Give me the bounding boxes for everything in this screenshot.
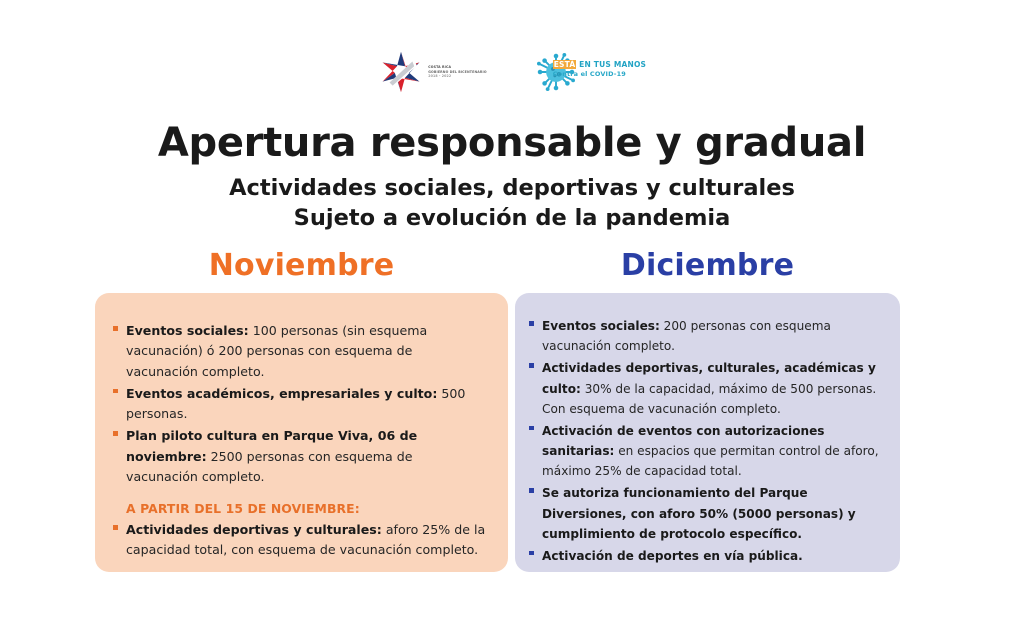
bullet-text: Plan piloto cultura en Parque Viva, 06 d… [126, 428, 417, 484]
costa-rica-star-icon [379, 50, 423, 94]
bullet-text: Activación de eventos con autorizaciones… [542, 424, 879, 478]
bullet-bold: Eventos sociales: [542, 319, 660, 333]
page-subtitle: Actividades sociales, deportivas y cultu… [0, 174, 1024, 233]
list-item: Plan piloto cultura en Parque Viva, 06 d… [113, 425, 486, 486]
bullet-bold: Activación de deportes en vía pública. [542, 549, 803, 563]
month-heading-diciembre: Diciembre [515, 248, 900, 283]
title-block: Apertura responsable y gradual Actividad… [0, 122, 1024, 233]
noviembre-bullet-list: Eventos sociales: 100 personas (sin esqu… [113, 320, 486, 486]
bullet-bold: Eventos sociales: [126, 323, 249, 338]
month-heading-noviembre: Noviembre [95, 248, 508, 283]
noviembre-bullet-list-after-note: Actividades deportivas y culturales: afo… [113, 519, 486, 560]
covid-logo-line-2: Contra el COVID-19 [553, 70, 646, 78]
costa-rica-bicentennial-logo: COSTA RICA GOBIERNO DEL BICENTENARIO 201… [379, 50, 486, 94]
covid-logo-line-1-rest: EN TUS MANOS [576, 60, 646, 69]
list-item: Se autoriza funcionamiento del Parque Di… [529, 482, 884, 543]
bullet-text: Activación de deportes en vía pública. [542, 549, 803, 563]
bullet-bold: Eventos académicos, empresariales y cult… [126, 386, 437, 401]
list-item: Activación de deportes en vía pública. [529, 545, 884, 565]
list-item: Eventos académicos, empresariales y cult… [113, 383, 486, 424]
list-item: Eventos sociales: 100 personas (sin esqu… [113, 320, 486, 381]
list-item: Eventos sociales: 200 personas con esque… [529, 315, 884, 355]
bullet-bold: Se autoriza funcionamiento del Parque Di… [542, 486, 856, 540]
covid-logo-text: ESTÁ EN TUS MANOS Contra el COVID-19 [553, 60, 646, 78]
covid-logo-highlight: ESTÁ [553, 60, 577, 69]
bullet-text: Eventos sociales: 100 personas (sin esqu… [126, 323, 427, 379]
esta-en-tus-manos-covid-logo: ESTÁ EN TUS MANOS Contra el COVID-19 [537, 51, 645, 93]
diciembre-bullet-list: Eventos sociales: 200 personas con esque… [529, 315, 884, 565]
page-title: Apertura responsable y gradual [0, 122, 1024, 164]
panel-noviembre: Eventos sociales: 100 personas (sin esqu… [95, 293, 508, 572]
bullet-rest: 30% de la capacidad, máximo de 500 perso… [542, 382, 876, 416]
bullet-text: Actividades deportivas y culturales: afo… [126, 522, 485, 557]
month-headings-row: Noviembre Diciembre [0, 248, 1024, 288]
bullet-text: Se autoriza funcionamiento del Parque Di… [542, 486, 856, 540]
panel-diciembre: Eventos sociales: 200 personas con esque… [515, 293, 900, 572]
costa-rica-logo-text: COSTA RICA GOBIERNO DEL BICENTENARIO 201… [428, 65, 486, 79]
covid-logo-line-1: ESTÁ EN TUS MANOS [553, 60, 646, 69]
list-item: Actividades deportivas y culturales: afo… [113, 519, 486, 560]
cr-logo-line-3: 2018 - 2022 [428, 74, 486, 79]
list-item: Actividades deportivas, culturales, acad… [529, 357, 884, 418]
bullet-text: Eventos sociales: 200 personas con esque… [542, 319, 831, 353]
page-subtitle-line-1: Actividades sociales, deportivas y cultu… [0, 174, 1024, 204]
bullet-text: Eventos académicos, empresariales y cult… [126, 386, 465, 421]
page-subtitle-line-2: Sujeto a evolución de la pandemia [0, 204, 1024, 234]
header-logo-strip: COSTA RICA GOBIERNO DEL BICENTENARIO 201… [0, 44, 1024, 100]
noviembre-section-note: A PARTIR DEL 15 DE NOVIEMBRE: [126, 501, 486, 516]
bullet-text: Actividades deportivas, culturales, acad… [542, 361, 876, 415]
bullet-bold: Actividades deportivas y culturales: [126, 522, 382, 537]
list-item: Activación de eventos con autorizaciones… [529, 420, 884, 481]
